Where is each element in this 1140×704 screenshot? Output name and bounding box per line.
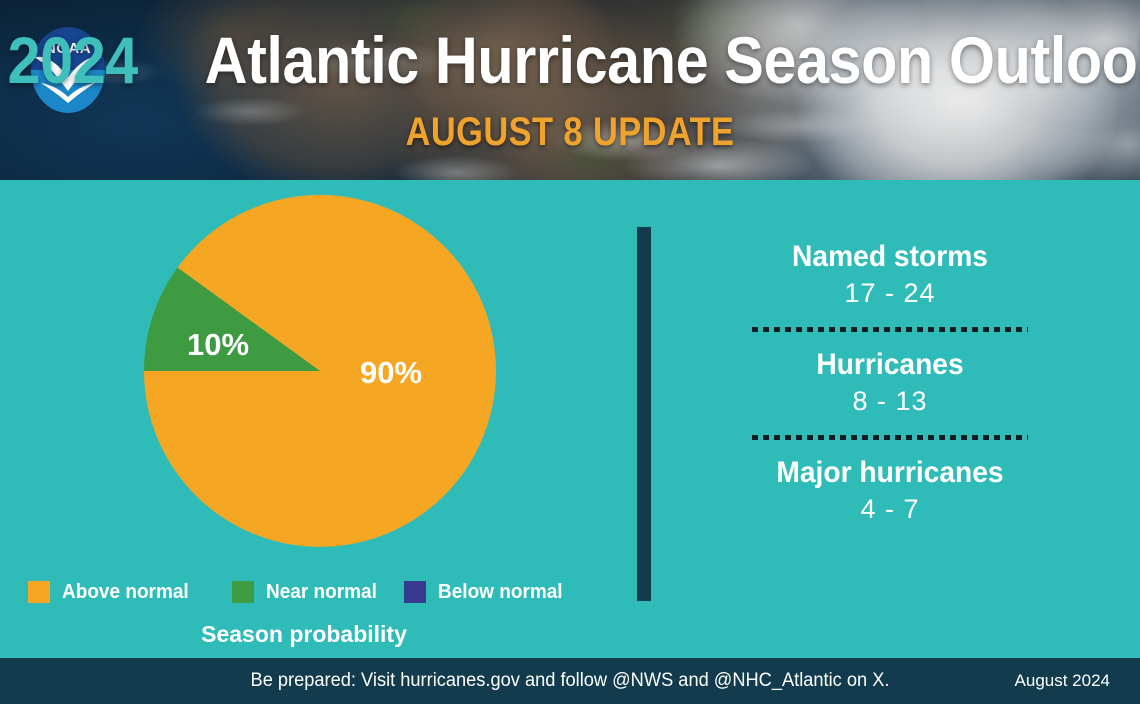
- forecast-stats-panel: Named storms 17 - 24 Hurricanes 8 - 13 M…: [660, 238, 1120, 526]
- title-year: 2024: [8, 22, 144, 98]
- stat-divider-2: [752, 435, 1028, 440]
- footer-bar: Be prepared: Visit hurricanes.gov and fo…: [0, 658, 1140, 704]
- legend-item-near-normal[interactable]: Near normal: [232, 579, 383, 605]
- header-subtitle: AUGUST 8 UPDATE: [80, 108, 1060, 156]
- legend-item-below-normal[interactable]: Below normal: [404, 579, 569, 605]
- stat-label-named-storms: Named storms: [674, 238, 1106, 276]
- pie-label-near-normal: 10%: [187, 327, 249, 362]
- footer-date: August 2024: [1015, 658, 1110, 704]
- stat-range-hurricanes: 8 - 13: [660, 384, 1120, 418]
- footer-message: Be prepared: Visit hurricanes.gov and fo…: [23, 658, 1117, 704]
- legend-swatch-below-normal: [404, 581, 426, 603]
- legend-item-above-normal[interactable]: Above normal: [28, 579, 195, 605]
- legend-label-below-normal: Below normal: [438, 580, 563, 604]
- vertical-divider-bar: [637, 227, 651, 601]
- body-panel: 10% 90% Above normal Near normal Below n…: [0, 180, 1140, 654]
- stat-label-major-hurricanes: Major hurricanes: [674, 454, 1106, 492]
- stat-major-hurricanes: Major hurricanes 4 - 7: [660, 454, 1120, 526]
- title-main: Atlantic Hurricane Season Outlook: [204, 22, 1140, 98]
- legend-swatch-above-normal: [28, 581, 50, 603]
- season-probability-pie-chart: 10% 90%: [144, 195, 496, 547]
- stat-hurricanes: Hurricanes 8 - 13: [660, 346, 1120, 418]
- stat-label-hurricanes: Hurricanes: [674, 346, 1106, 384]
- legend-label-near-normal: Near normal: [266, 580, 377, 604]
- header-banner: NOAA 2024Atlantic Hurricane Season Outlo…: [0, 0, 1140, 180]
- stat-named-storms: Named storms 17 - 24: [660, 238, 1120, 310]
- stat-range-major-hurricanes: 4 - 7: [660, 492, 1120, 526]
- legend-label-above-normal: Above normal: [62, 580, 189, 604]
- stat-divider-1: [752, 327, 1028, 332]
- season-probability-caption: Season probability: [0, 620, 608, 648]
- pie-legend: Above normal Near normal Below normal: [28, 579, 608, 609]
- infographic-root: NOAA 2024Atlantic Hurricane Season Outlo…: [0, 0, 1140, 704]
- legend-swatch-near-normal: [232, 581, 254, 603]
- pie-label-above-normal: 90%: [360, 355, 422, 390]
- stat-range-named-storms: 17 - 24: [660, 276, 1120, 310]
- header-title: 2024Atlantic Hurricane Season Outlook: [0, 22, 1140, 98]
